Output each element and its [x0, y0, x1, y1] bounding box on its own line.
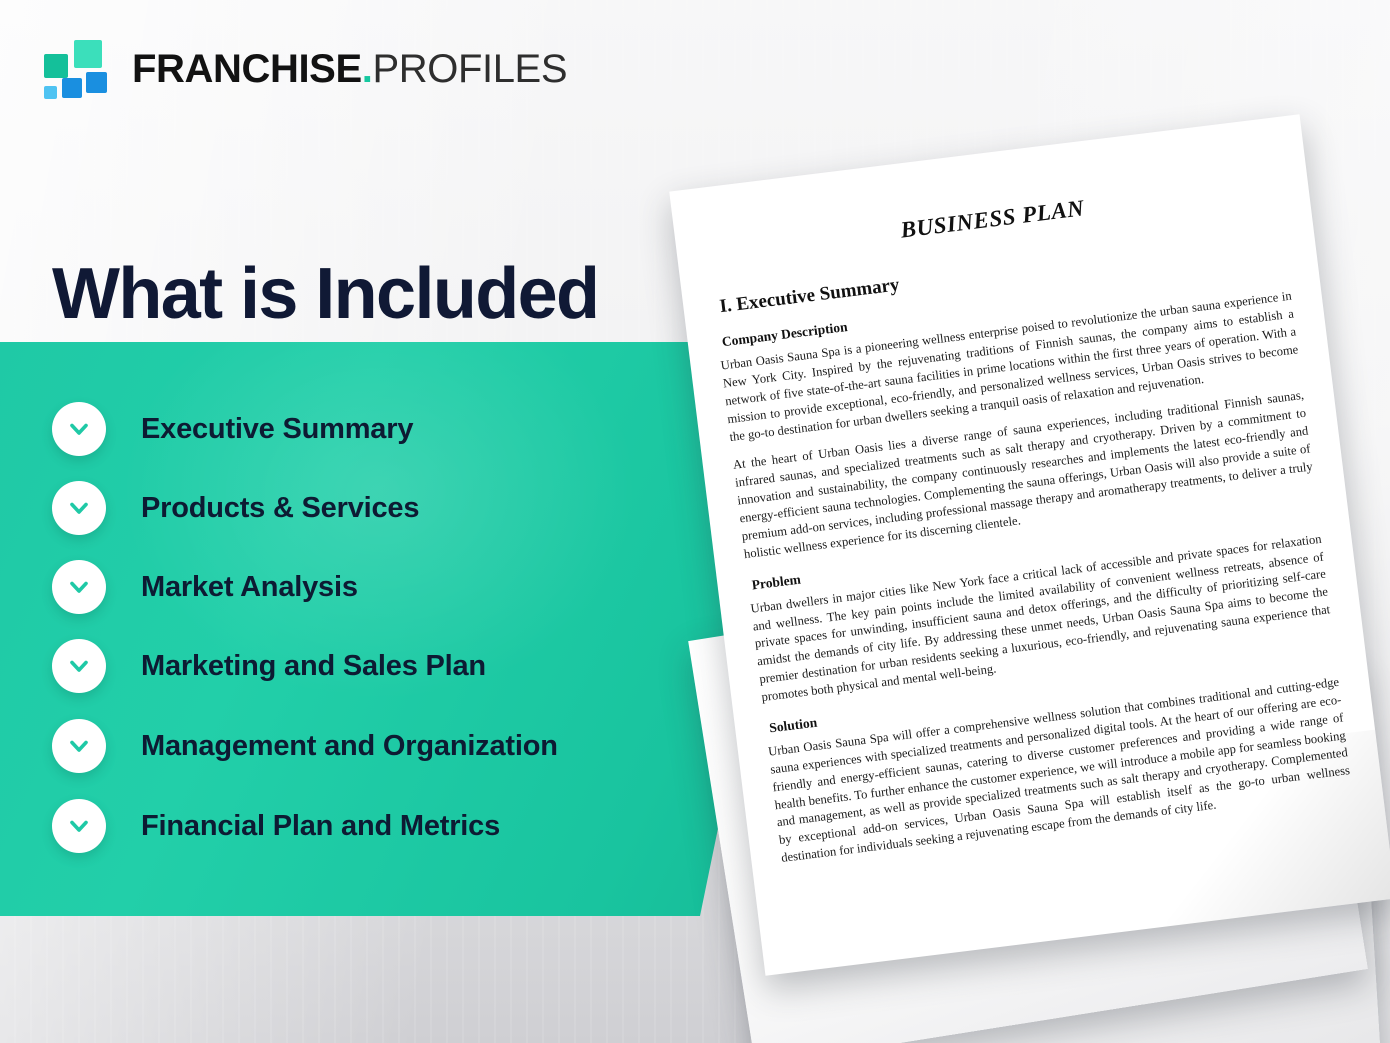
list-item-label: Financial Plan and Metrics [141, 810, 500, 843]
brand-word-light: PROFILES [372, 47, 567, 91]
document-paragraph: Urban Oasis Sauna Spa will offer a compr… [767, 674, 1353, 868]
chevron-down-icon[interactable] [52, 560, 106, 614]
logo-square-blue-center [62, 78, 82, 98]
brand-word-bold: FRANCHISE [132, 47, 362, 91]
chevron-down-icon[interactable] [52, 719, 106, 773]
business-plan-document-stack: ...an wellness ...ands of city life. BUS… [640, 120, 1390, 1043]
list-item[interactable]: Marketing and Sales Plan [52, 639, 486, 693]
brand-word-dot: . [362, 47, 373, 91]
list-item[interactable]: Executive Summary [52, 402, 413, 456]
list-item-label: Market Analysis [141, 571, 358, 604]
document-page-front: BUSINESS PLAN I. Executive Summary Compa… [669, 114, 1390, 975]
list-item-label: Executive Summary [141, 413, 413, 446]
logo-square-sky-small [44, 86, 57, 99]
slide-root: FRANCHISE.PROFILES What is Included Exec… [0, 0, 1390, 1043]
logo-square-teal-dark [44, 54, 68, 78]
chevron-down-icon[interactable] [52, 799, 106, 853]
logo-square-blue-right [86, 72, 107, 93]
list-item-label: Management and Organization [141, 730, 558, 763]
franchise-profiles-squares-logo [44, 40, 110, 98]
chevron-down-icon[interactable] [52, 402, 106, 456]
chevron-down-icon[interactable] [52, 639, 106, 693]
list-item[interactable]: Market Analysis [52, 560, 358, 614]
logo-square-teal-light [74, 40, 102, 68]
list-item[interactable]: Products & Services [52, 481, 419, 535]
brand-wordmark: FRANCHISE.PROFILES [132, 49, 567, 89]
page-title: What is Included [52, 258, 598, 330]
list-item-label: Marketing and Sales Plan [141, 650, 486, 683]
list-item[interactable]: Management and Organization [52, 719, 558, 773]
chevron-down-icon[interactable] [52, 481, 106, 535]
list-item[interactable]: Financial Plan and Metrics [52, 799, 500, 853]
brand-logo[interactable]: FRANCHISE.PROFILES [44, 40, 567, 98]
list-item-label: Products & Services [141, 492, 419, 525]
